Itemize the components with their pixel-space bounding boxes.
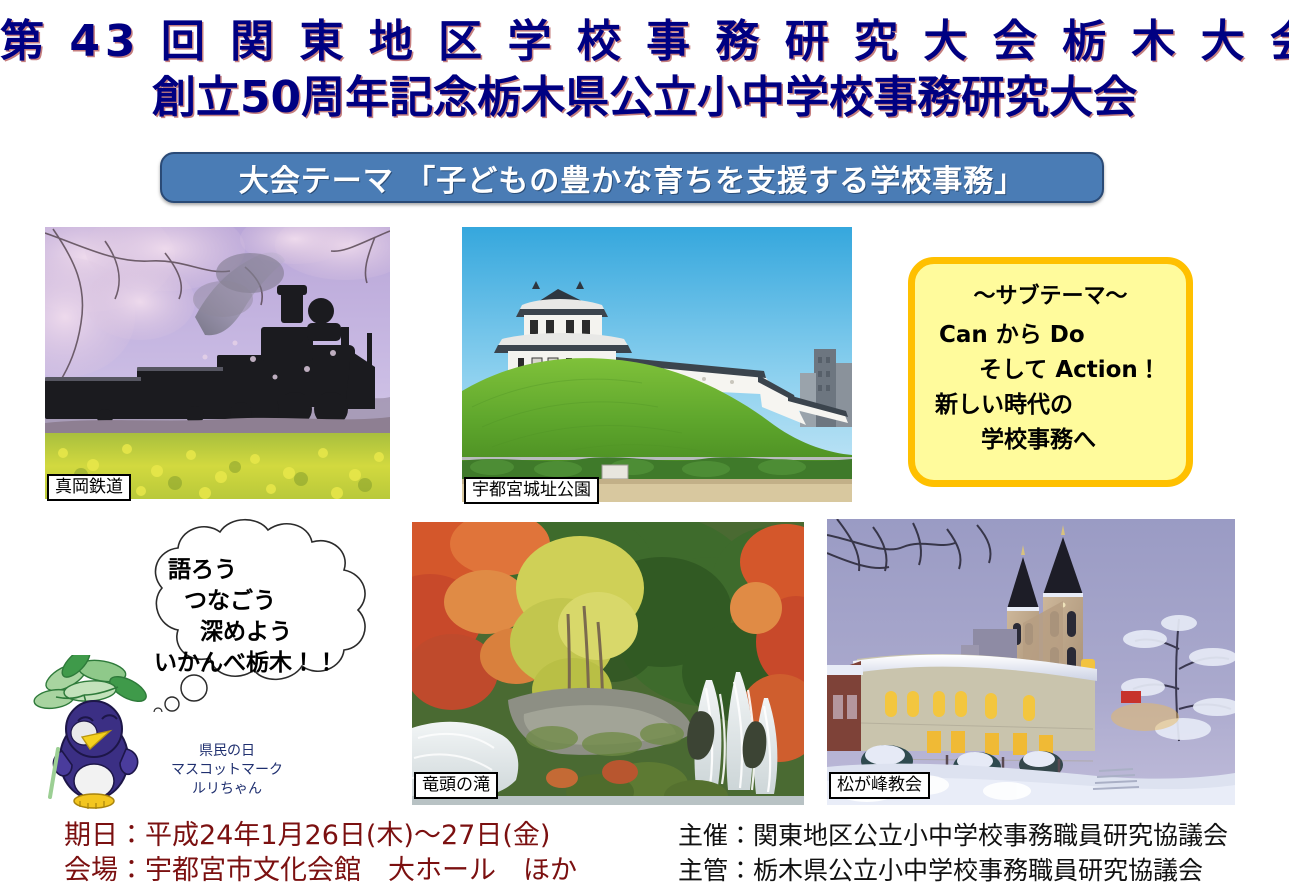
organizer-host: 主催：関東地区公立小中学校事務職員研究協議会 [678,818,1228,853]
photo-ryuzu-falls [412,522,804,805]
photo-caption-moka-railway: 真岡鉄道 [47,474,131,501]
speech-line-2: つなごう [110,585,400,616]
event-venue: 会場：宇都宮市文化会館 大ホール ほか [64,853,577,888]
speech-line-3: 深めよう [110,616,400,647]
organizer-manager: 主管：栃木県公立小中学校事務職員研究協議会 [678,853,1228,888]
conference-theme-banner: 大会テーマ 「子どもの豊かな育ちを支援する学校事務」 [160,152,1104,203]
conference-theme-text: 大会テーマ 「子どもの豊かな育ちを支援する学校事務」 [239,156,1025,200]
subtheme-line-4: 学校事務へ [915,423,1186,458]
photo-caption-matsugamine-church: 松が峰教会 [829,772,930,799]
subtheme-heading: 〜サブテーマ〜 [915,278,1186,310]
page-title: 第 43 回 関 東 地 区 学 校 事 務 研 究 大 会 栃 木 大 会 創… [0,14,1289,126]
mascot-caption-line-1: 県民の日 [152,742,302,761]
photo-caption-utsunomiya-castle-park: 宇都宮城址公園 [464,477,599,504]
speech-line-1: 語ろう [110,554,400,585]
title-line-2: 創立50周年記念栃木県公立小中学校事務研究大会 [0,70,1289,126]
event-details-block: 期日：平成24年1月26日(木)〜27日(金) 会場：宇都宮市文化会館 大ホール… [64,818,577,888]
subtheme-line-1: Can から Do [915,318,1186,353]
subtheme-line-3: 新しい時代の [915,388,1186,423]
title-line-1: 第 43 回 関 東 地 区 学 校 事 務 研 究 大 会 栃 木 大 会 [0,14,1289,70]
photo-caption-ryuzu-falls: 竜頭の滝 [414,772,498,799]
poster-canvas: 第 43 回 関 東 地 区 学 校 事 務 研 究 大 会 栃 木 大 会 創… [0,0,1289,891]
organizer-block: 主催：関東地区公立小中学校事務職員研究協議会 主管：栃木県公立小中学校事務職員研… [678,818,1228,888]
mascot-ruri-chan [32,655,157,810]
subtheme-body: Can から Do そして Action！ 新しい時代の 学校事務へ [915,318,1186,458]
photo-moka-railway [45,227,390,499]
mascot-caption-line-2: マスコットマーク [152,761,302,780]
subtheme-box: 〜サブテーマ〜 Can から Do そして Action！ 新しい時代の 学校事… [908,257,1193,487]
event-date: 期日：平成24年1月26日(木)〜27日(金) [64,818,577,853]
photo-matsugamine-church [827,519,1235,805]
photo-utsunomiya-castle-park [462,227,852,502]
mascot-caption-line-3: ルリちゃん [152,780,302,799]
subtheme-line-2: そして Action！ [915,353,1186,388]
mascot-caption: 県民の日 マスコットマーク ルリちゃん [152,742,302,799]
